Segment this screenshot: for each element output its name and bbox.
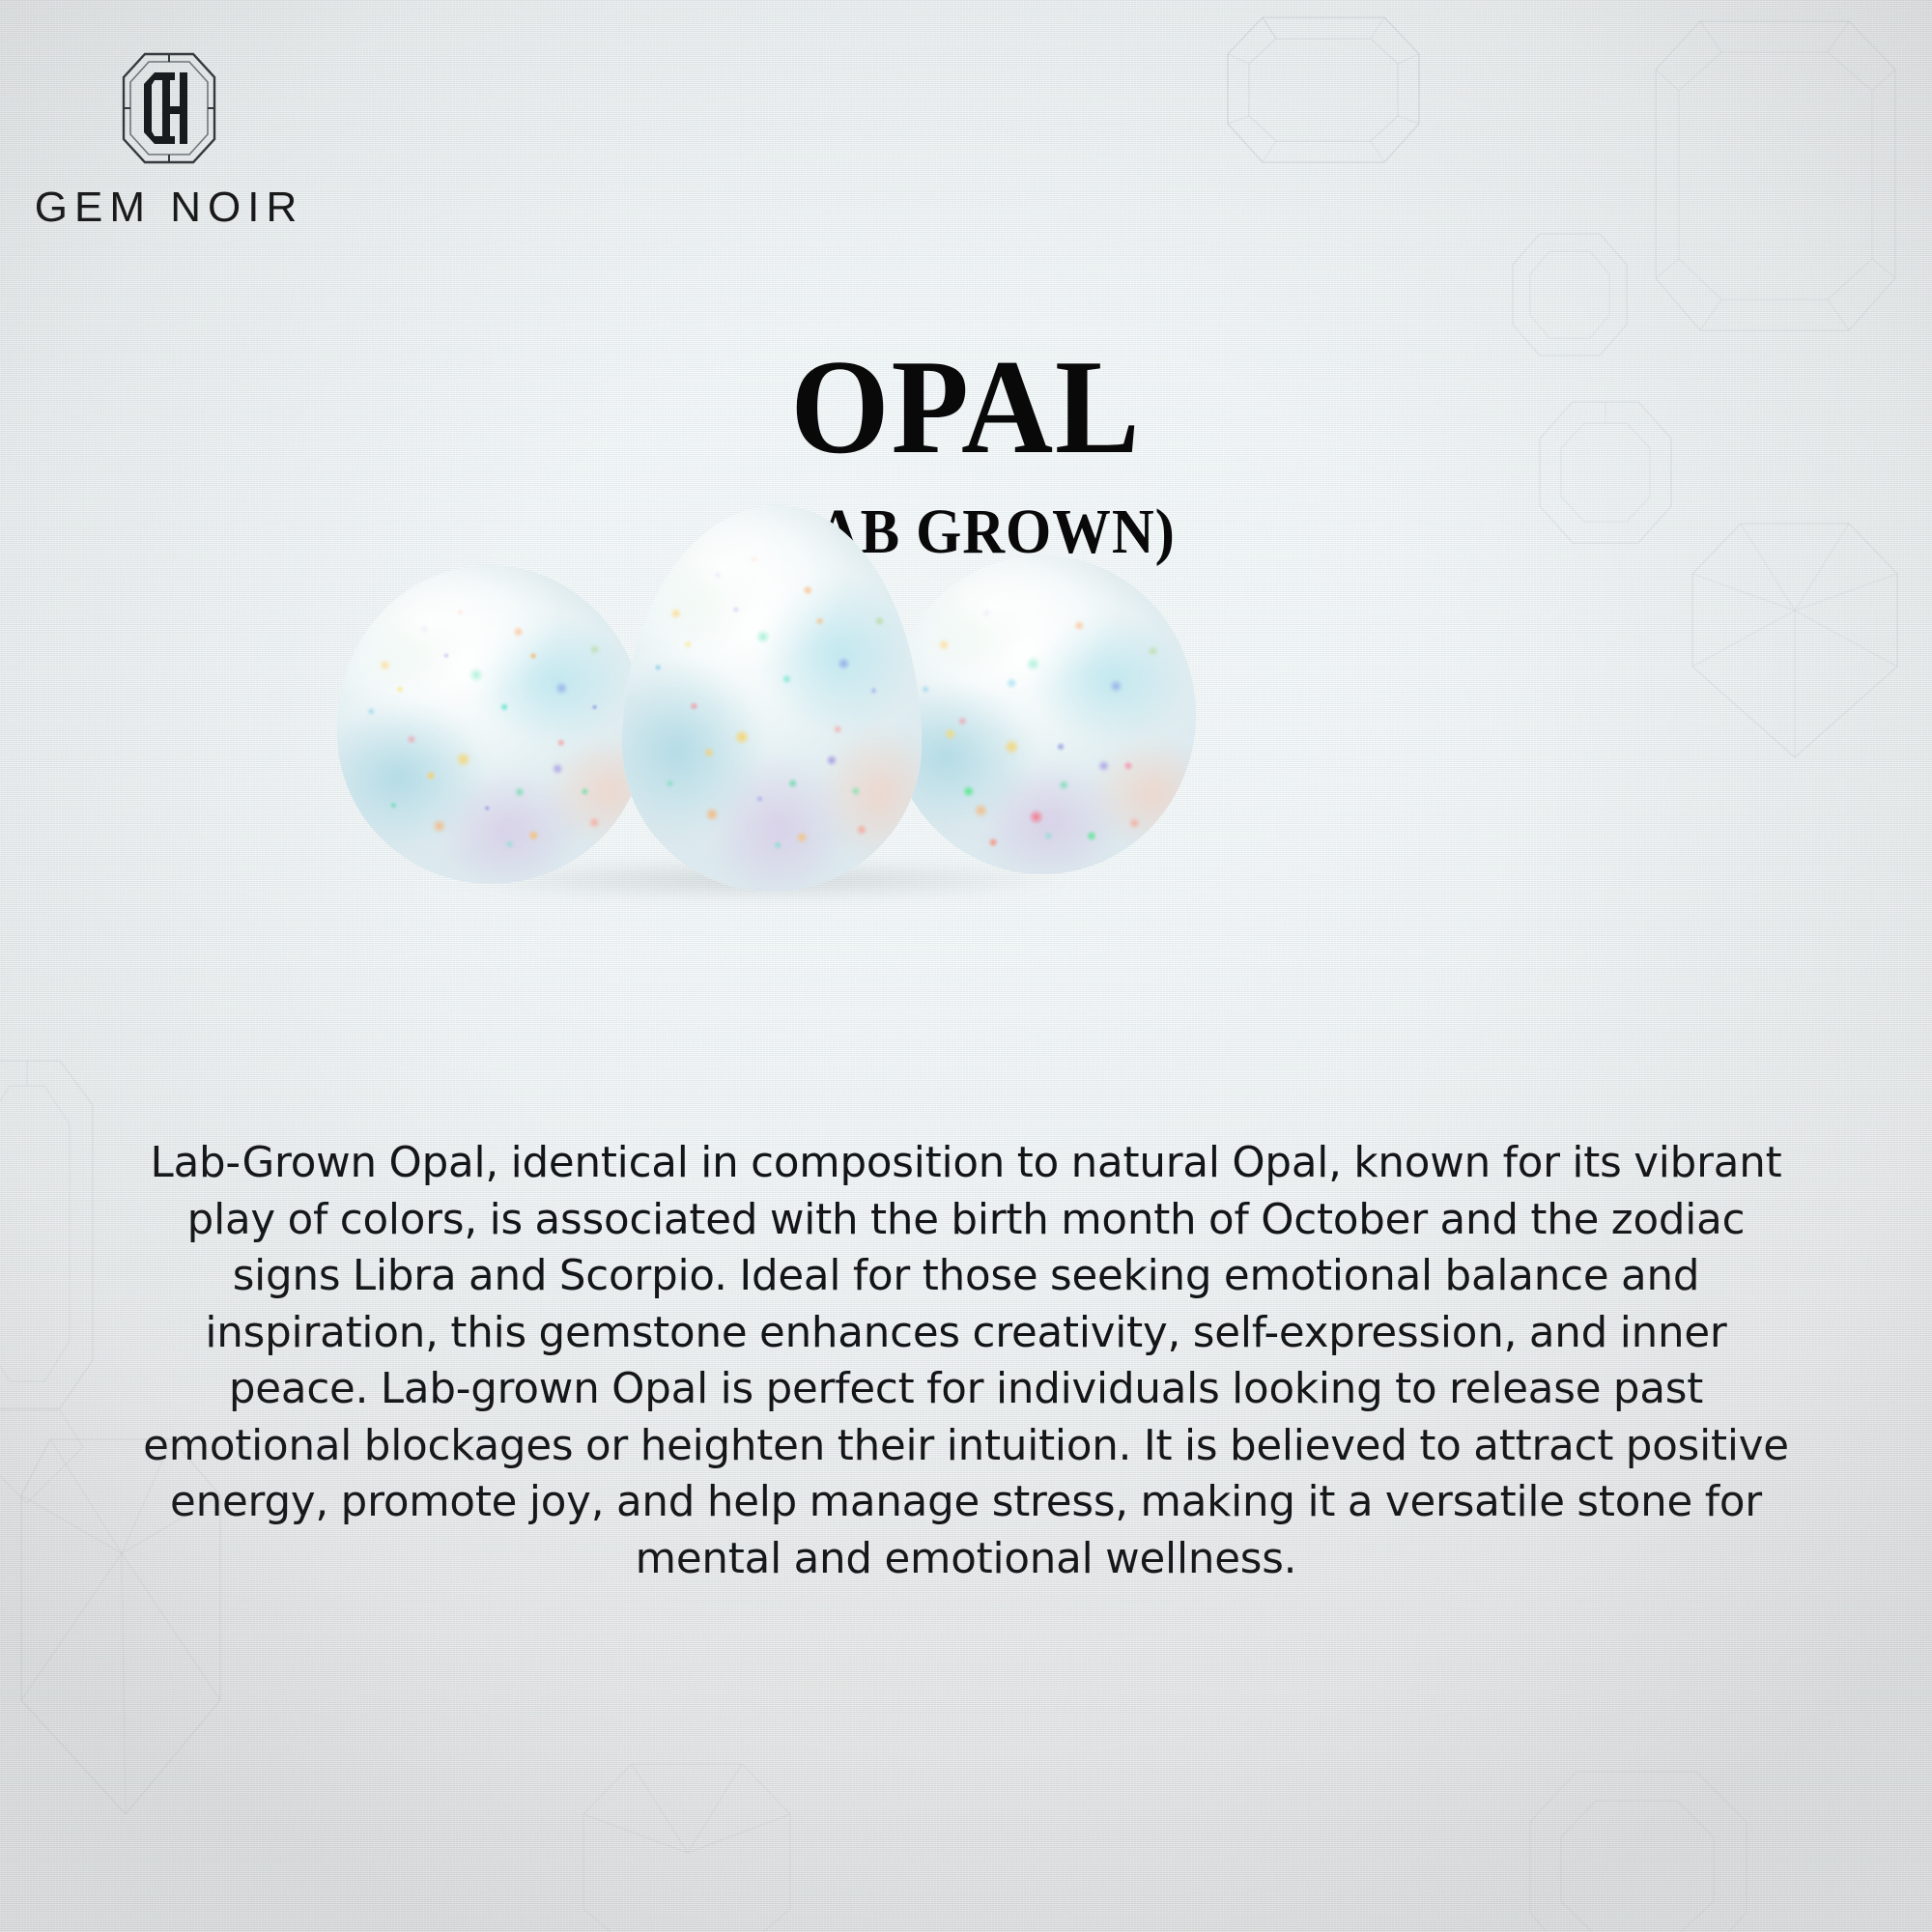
watermark-layer [0,0,1932,1932]
round-cabochon [889,555,1196,874]
description-paragraph: Lab-Grown Opal, identical in composition… [135,1135,1797,1587]
poster-canvas: GEM NOIR OPAL (LAB GROWN) [0,0,1932,1932]
gem-cut-outline-icon [1642,0,1932,383]
product-image [328,497,1198,903]
brand-lockup: GEM NOIR [29,50,309,232]
page-title: OPAL [58,340,1874,475]
brand-name: GEM NOIR [35,184,303,232]
gem-cut-outline-icon [1507,1748,1777,1932]
vignette-overlay [0,0,1932,1932]
gem-cut-outline-icon [0,1041,133,1524]
pear-cabochon [622,505,922,892]
octagon-gn-monogram-icon [120,50,218,166]
gem-cut-outline-icon [541,1739,831,1932]
gem-cut-outline-icon [1212,0,1435,180]
paper-texture [0,0,1932,1932]
oval-cabochon [321,550,662,899]
